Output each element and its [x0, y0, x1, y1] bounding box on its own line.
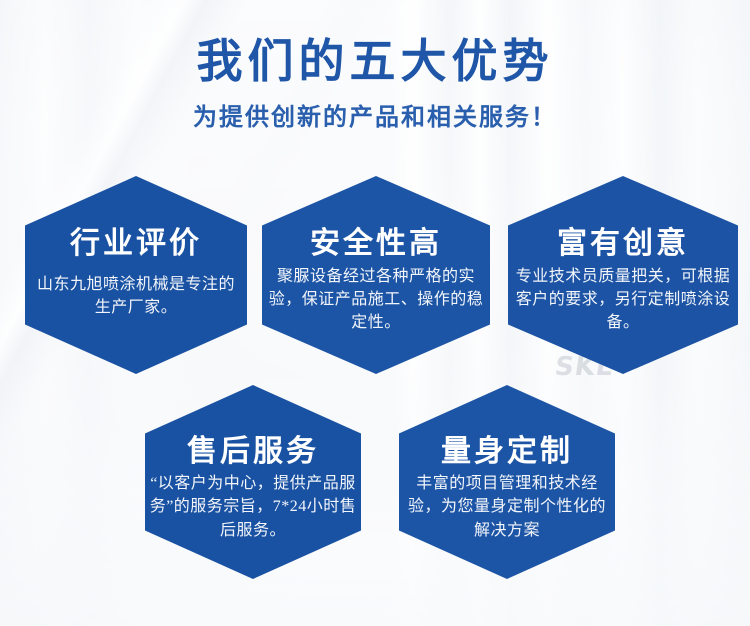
advantage-body: “以客户为中心，提供产品服务”的服务宗旨，7*24小时售后服务。 — [149, 472, 357, 542]
advantage-card-creative[interactable]: 富有创意 专业技术员质量把关，可根据客户的要求，另行定制喷涂设备。 — [508, 176, 738, 374]
advantage-card-content: 行业评价 山东九旭喷涂机械是专注的生产厂家。 — [25, 176, 247, 374]
advantage-body: 聚脲设备经过各种严格的实验，保证产品施工、操作的稳定性。 — [266, 265, 486, 335]
advantage-title: 行业评价 — [25, 229, 247, 259]
advantage-title: 安全性高 — [262, 229, 490, 259]
advantage-card-content: 售后服务 “以客户为中心，提供产品服务”的服务宗旨，7*24小时售后服务。 — [145, 385, 361, 579]
background-floor — [0, 344, 750, 626]
advantage-title: 售后服务 — [145, 437, 361, 467]
page-title: 我们的五大优势 — [0, 36, 750, 89]
advantage-card-content: 量身定制 丰富的项目管理和技术经验，为您量身定制个性化的解决方案 — [399, 385, 615, 579]
advantage-body: 丰富的项目管理和技术经验，为您量身定制个性化的解决方案 — [403, 472, 611, 542]
advantages-banner: SKL 我们的五大优势 为提供创新的产品和相关服务！ 行业评价 山东九旭喷涂机械… — [0, 0, 750, 626]
advantage-title: 量身定制 — [399, 437, 615, 467]
page-subtitle: 为提供创新的产品和相关服务！ — [0, 97, 750, 132]
heading-block: 我们的五大优势 为提供创新的产品和相关服务！ — [0, 36, 750, 132]
advantage-card-after-sales-service[interactable]: 售后服务 “以客户为中心，提供产品服务”的服务宗旨，7*24小时售后服务。 — [145, 385, 361, 579]
advantage-card-content: 富有创意 专业技术员质量把关，可根据客户的要求，另行定制喷涂设备。 — [508, 176, 738, 374]
advantage-card-content: 安全性高 聚脲设备经过各种严格的实验，保证产品施工、操作的稳定性。 — [262, 176, 490, 374]
advantage-body: 专业技术员质量把关，可根据客户的要求，另行定制喷涂设备。 — [512, 265, 734, 335]
advantage-title: 富有创意 — [508, 229, 738, 259]
advantage-card-high-safety[interactable]: 安全性高 聚脲设备经过各种严格的实验，保证产品施工、操作的稳定性。 — [262, 176, 490, 374]
advantage-card-industry-evaluation[interactable]: 行业评价 山东九旭喷涂机械是专注的生产厂家。 — [25, 176, 247, 374]
advantage-card-tailor-made[interactable]: 量身定制 丰富的项目管理和技术经验，为您量身定制个性化的解决方案 — [399, 385, 615, 579]
advantage-body: 山东九旭喷涂机械是专注的生产厂家。 — [29, 273, 243, 319]
